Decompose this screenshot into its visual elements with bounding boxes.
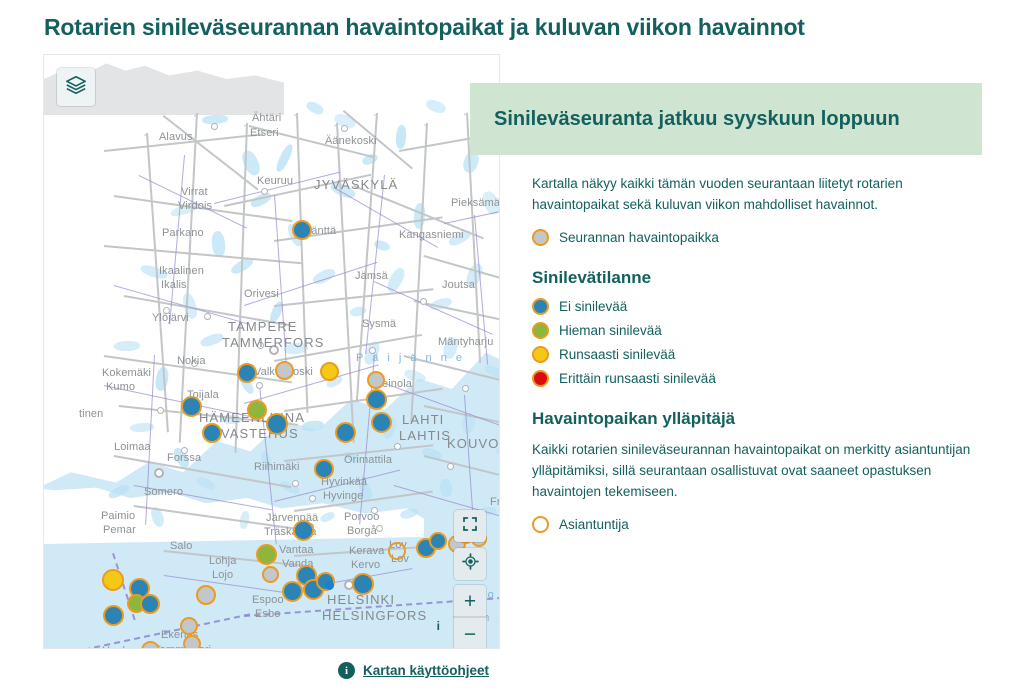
map-help-link-text[interactable]: Kartan käyttöohjeet [363,663,489,678]
map-label: Kangasniemi [399,229,464,241]
observation-marker[interactable] [237,363,257,383]
map-label: Sysmä [362,318,396,330]
map-label: Porvoo [344,511,379,523]
observation-marker[interactable] [202,423,222,443]
observation-marker[interactable] [282,581,303,602]
site-dot-icon [532,229,549,246]
layers-button[interactable] [57,68,95,106]
status-heading: Sinilevätilanne [532,268,982,288]
map-label: Esbo [255,608,280,620]
map-label: Vantaa [279,544,314,556]
observation-marker[interactable] [314,459,334,479]
observation-marker[interactable] [429,532,447,550]
map-label: Äänekoski [325,135,377,147]
map-label: LAHTIS [399,428,451,443]
map-label: Orimattila [344,454,392,466]
map-label: Ylöjärvi [152,312,189,324]
locate-icon [462,553,479,575]
zoom-out-button[interactable]: − [454,617,486,649]
map-label: LAHTI [402,412,444,427]
map-label: TAMPERE [228,319,298,334]
observation-marker[interactable] [181,396,202,417]
map-label: Keuruu [257,175,293,187]
map-label: Mäntyharju [438,336,493,348]
legend-maintainer-label: Asiantuntija [559,517,629,532]
legend-site: Seurannan havaintopaikka [532,229,982,246]
maintainer-heading: Havaintopaikan ylläpitäjä [532,409,982,429]
map-label: Kumo [106,381,135,393]
map-label: Joutsa [442,279,475,291]
map-label: Lohja [209,555,236,567]
observation-marker[interactable] [292,220,312,240]
map-label: P ä i j ä n n e [356,352,465,364]
map-label: Jämsä [355,270,388,282]
legend-status-2: Runsaasti sinilevää [532,346,982,363]
map-label: Alavus [159,131,193,143]
legend-status-2-label: Runsaasti sinilevää [559,347,675,362]
observation-marker[interactable] [293,520,314,541]
map-label: Parkano [162,227,204,239]
plus-icon: + [464,591,476,612]
legend-status-3-label: Erittäin runsaasti sinilevää [559,371,716,386]
legend-maintainer: Asiantuntija [532,516,982,533]
observation-marker[interactable] [352,573,374,595]
observation-marker[interactable] [140,594,160,614]
map-label: TAMMERFORS [222,335,324,350]
page-title: Rotarien sinileväseurannan havaintopaika… [44,14,805,41]
expert-dot-icon [532,516,549,533]
notice-banner: Sinileväseuranta jatkuu syyskuun loppuun [470,83,982,155]
map-label: Loimaa [114,441,151,453]
map-label: Virdois [178,200,212,212]
info-panel: Kartalla näkyy kaikki tämän vuoden seura… [532,173,982,540]
observation-marker[interactable] [183,635,201,649]
legend-status-0: Ei sinilevää [532,298,982,315]
map-label: Somero [144,486,183,498]
legend-status-0-label: Ei sinilevää [559,299,627,314]
current-location-dot[interactable] [325,581,334,590]
map-label: Paimio [101,510,135,522]
map-label: Orivesi [244,288,279,300]
map-label: Riihimäki [254,461,300,473]
legend-status-3: Erittäin runsaasti sinilevää [532,370,982,387]
status-dot-some-algae-icon [532,322,549,339]
map-label: Ähtäri [252,112,281,124]
status-dot-no-algae-icon [532,298,549,315]
status-dot-plenty-algae-icon [532,346,549,363]
map-label: Ikalis [161,279,187,291]
legend-site-label: Seurannan havaintopaikka [559,230,719,245]
observation-marker[interactable] [388,542,406,560]
locate-button[interactable] [454,548,486,580]
map-help-link[interactable]: i Kartan käyttöohjeet [338,662,489,679]
observation-marker[interactable] [180,617,198,635]
map-label: Lojo [212,569,233,581]
observation-marker[interactable] [335,422,356,443]
map-label: Fredrikshamn [490,496,500,508]
observation-marker[interactable] [196,585,216,605]
legend-status-1: Hieman sinilevää [532,322,982,339]
map-label: tinen [79,408,103,420]
attribution-info-icon[interactable]: i [437,619,440,633]
observation-marker[interactable] [366,389,387,410]
map-label: Hyvinge [323,490,363,502]
map-label: Forssa [167,452,201,464]
info-icon: i [338,662,355,679]
map-label: Hanko [102,645,134,649]
map-label: Kerava [349,545,384,557]
map-label: Pieksämäki [451,197,500,209]
map-label: HELSINGFORS [322,608,427,623]
map-label: Nokia [177,355,206,367]
observation-marker[interactable] [141,641,160,649]
map-label: Borgå [347,525,377,537]
status-dot-abundant-algae-icon [532,370,549,387]
map-label: JYVÄSKYLÄ [314,177,398,192]
notice-banner-title: Sinileväseuranta jatkuu syyskuun loppuun [494,108,900,131]
observation-marker[interactable] [256,544,277,565]
observation-marker[interactable] [266,413,288,435]
observation-marker[interactable] [275,361,294,380]
map-label: Pemar [103,524,136,536]
layers-icon [65,74,87,101]
minus-icon: − [464,624,476,645]
map-label: KOUVOLA [447,436,500,451]
map-label: Ikaalinen [159,265,204,277]
map-container[interactable]: AlavusÄhtäriEtseriÄänekoskiKeuruuJYVÄSKY… [43,54,500,649]
observation-marker[interactable] [247,400,267,420]
panel-intro-text: Kartalla näkyy kaikki tämän vuoden seura… [532,173,982,215]
map-label: Virrat [181,186,208,198]
observation-marker[interactable] [371,412,392,433]
observation-marker[interactable] [320,362,339,381]
observation-marker[interactable] [103,605,124,626]
zoom-in-button[interactable]: + [454,585,486,617]
maintainer-text: Kaikki rotarien sinileväseurannan havain… [532,439,982,502]
map-label: Kokemäki [102,367,151,379]
observation-marker[interactable] [262,566,279,583]
map-label: Espoo [252,594,284,606]
observation-marker[interactable] [102,569,124,591]
map-label: Etseri [250,127,279,139]
observation-marker[interactable] [367,371,385,389]
map-label: Hamina [499,482,500,494]
legend-status-1-label: Hieman sinilevää [559,323,662,338]
fullscreen-icon [462,516,478,537]
map-label: Kervo [351,559,380,571]
fullscreen-button[interactable] [454,510,486,542]
map-label: Salo [170,540,192,552]
